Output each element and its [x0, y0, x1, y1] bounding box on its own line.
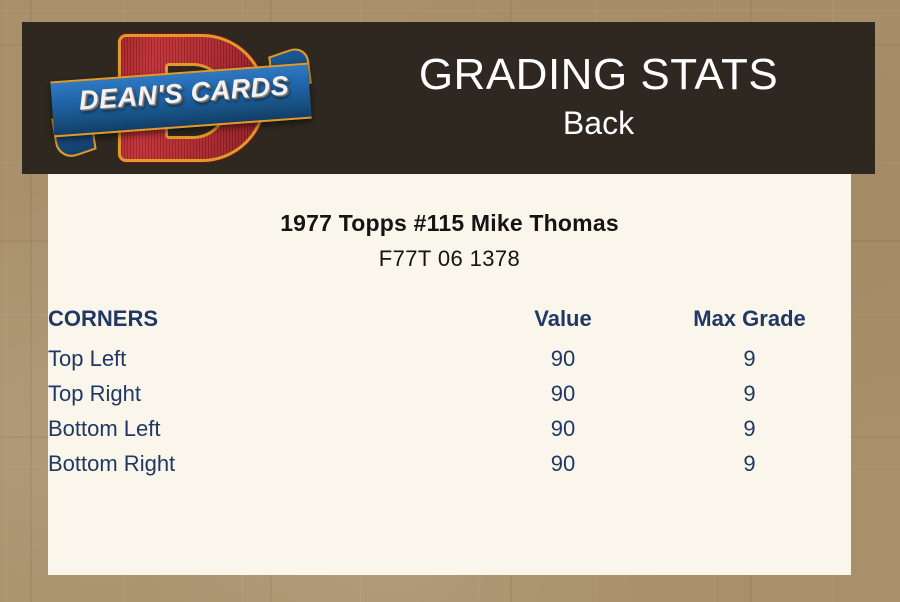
page-subtitle: Back	[563, 103, 634, 145]
deans-cards-logo[interactable]: DEAN'S CARDS	[48, 24, 318, 172]
header-title-block: GRADING STATS Back	[322, 22, 875, 174]
table-body: Top Left909Top Right909Bottom Left909Bot…	[48, 341, 851, 481]
row-label: Bottom Right	[48, 446, 478, 481]
column-header-section: CORNERS	[48, 306, 478, 341]
grading-stats-page: DEAN'S CARDS GRADING STATS Back 1977 Top…	[0, 0, 900, 602]
table-row: Bottom Right909	[48, 446, 851, 481]
page-title: GRADING STATS	[419, 51, 778, 99]
column-header-max-grade: Max Grade	[648, 306, 851, 341]
row-label: Top Left	[48, 341, 478, 376]
row-value: 90	[478, 446, 648, 481]
table-row: Bottom Left909	[48, 411, 851, 446]
row-max-grade: 9	[648, 376, 851, 411]
row-value: 90	[478, 411, 648, 446]
row-label: Top Right	[48, 376, 478, 411]
table-header-row: CORNERS Value Max Grade	[48, 306, 851, 341]
content-panel: 1977 Topps #115 Mike Thomas F77T 06 1378…	[48, 174, 851, 575]
table-row: Top Right909	[48, 376, 851, 411]
header-bar: DEAN'S CARDS GRADING STATS Back	[22, 22, 875, 174]
column-header-value: Value	[478, 306, 648, 341]
card-title: 1977 Topps #115 Mike Thomas	[48, 210, 851, 237]
row-max-grade: 9	[648, 411, 851, 446]
card-serial-number: F77T 06 1378	[48, 246, 851, 272]
table-row: Top Left909	[48, 341, 851, 376]
row-value: 90	[478, 341, 648, 376]
row-max-grade: 9	[648, 446, 851, 481]
row-value: 90	[478, 376, 648, 411]
row-label: Bottom Left	[48, 411, 478, 446]
grading-stats-table: CORNERS Value Max Grade Top Left909Top R…	[48, 306, 851, 481]
table-header: CORNERS Value Max Grade	[48, 306, 851, 341]
row-max-grade: 9	[648, 341, 851, 376]
